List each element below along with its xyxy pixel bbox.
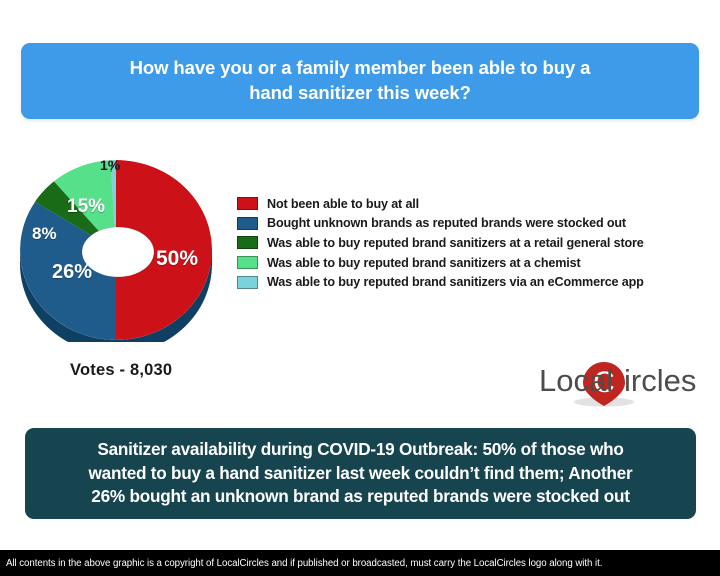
pie-chart-donut-3d: 50% 26% 8% 15% 1% Votes - 8,030: [14, 152, 229, 342]
copyright-footer-bar: All contents in the above graphic is a c…: [0, 550, 720, 576]
legend-label-3: Was able to buy reputed brand sanitizers…: [267, 256, 581, 270]
legend-item-ecommerce-app: Was able to buy reputed brand sanitizers…: [237, 272, 707, 292]
legend-item-not-been-able-to-buy: Not been able to buy at all: [237, 194, 707, 214]
votes-count-label: Votes - 8,030: [70, 361, 172, 380]
legend-item-chemist: Was able to buy reputed brand sanitizers…: [237, 253, 707, 273]
summary-caption-text: Sanitizer availability during COVID-19 O…: [89, 438, 633, 509]
legend-label-0: Not been able to buy at all: [267, 197, 419, 211]
legend-label-4: Was able to buy reputed brand sanitizers…: [267, 275, 644, 289]
summary-caption-banner: Sanitizer availability during COVID-19 O…: [25, 428, 696, 519]
legend-label-1: Bought unknown brands as reputed brands …: [267, 216, 626, 230]
legend-swatch-icon-red: [237, 197, 258, 210]
chart-area: 50% 26% 8% 15% 1% Votes - 8,030 Not been…: [0, 140, 720, 395]
legend-swatch-icon-blue: [237, 217, 258, 230]
copyright-footer-text: All contents in the above graphic is a c…: [0, 558, 602, 569]
localcircles-logo-svg: C Local ircles: [531, 353, 701, 409]
donut-chart-svg: [14, 152, 229, 342]
localcircles-logo: C Local ircles: [531, 353, 701, 409]
slice-value-label-1: 1%: [100, 157, 120, 173]
question-title: How have you or a family member been abl…: [130, 56, 591, 105]
logo-text-ircles: ircles: [624, 363, 696, 398]
question-header-banner: How have you or a family member been abl…: [21, 43, 699, 119]
legend-swatch-icon-dark-green: [237, 236, 258, 249]
logo-text-local: Local: [539, 363, 613, 398]
legend-label-2: Was able to buy reputed brand sanitizers…: [267, 236, 644, 250]
legend-swatch-icon-light-green: [237, 256, 258, 269]
chart-legend: Not been able to buy at all Bought unkno…: [237, 194, 707, 292]
legend-item-retail-general-store: Was able to buy reputed brand sanitizers…: [237, 233, 707, 253]
legend-item-bought-unknown-brands: Bought unknown brands as reputed brands …: [237, 214, 707, 234]
legend-swatch-icon-cyan: [237, 276, 258, 289]
